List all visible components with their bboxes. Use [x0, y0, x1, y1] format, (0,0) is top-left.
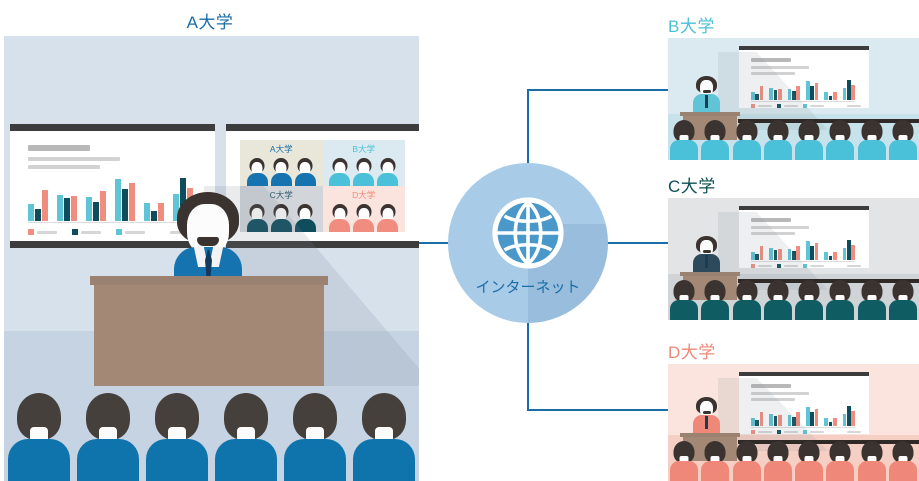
bar-group: [843, 240, 855, 260]
chart-legend-item: [72, 229, 101, 235]
audience-body: [701, 140, 729, 160]
remote-audience-member: [889, 120, 917, 160]
bar: [122, 189, 128, 221]
remote-audience-member: [826, 120, 854, 160]
vc-participants: [323, 202, 406, 232]
chart-footnote-bar: [847, 431, 861, 433]
bar: [833, 92, 837, 100]
audience-row: [4, 391, 419, 481]
panel-title-b: B大学: [668, 12, 715, 37]
vc-participant-avatar: [353, 158, 374, 186]
remote-audience-row: [668, 439, 919, 481]
bar: [829, 96, 833, 100]
avatar-body: [329, 173, 350, 186]
bar: [129, 183, 135, 221]
remote-audience-member: [764, 280, 792, 320]
podium-desk-top: [90, 276, 328, 285]
remote-audience-row: [668, 278, 919, 320]
vc-cell-B大学[interactable]: B大学: [323, 140, 406, 186]
bar-group: [115, 179, 135, 221]
remote-audience-member: [670, 441, 698, 481]
bar: [806, 241, 810, 260]
slide-title-bar: [28, 145, 90, 151]
bar: [93, 202, 99, 221]
panel-title-c: C大学: [668, 172, 716, 197]
bar: [829, 256, 833, 260]
audience-body: [733, 300, 761, 320]
internet-hub[interactable]: インターネット: [448, 163, 608, 323]
main-lecture-hall-panel: A大学B大学C大学D大学: [4, 36, 419, 481]
screen-rail-top-right: [226, 124, 419, 131]
bar: [806, 407, 810, 426]
lecturer-tie: [705, 255, 708, 268]
legend-label-bar: [125, 231, 145, 234]
bar: [847, 240, 851, 260]
audience-body: [858, 140, 886, 160]
vc-participant-avatar: [295, 158, 316, 186]
avatar-body: [353, 173, 374, 186]
bar: [64, 198, 70, 221]
bar-group: [824, 418, 836, 426]
vc-cell-label: A大学: [240, 143, 323, 155]
slide-text-line: [28, 157, 120, 161]
remote-audience-member: [795, 120, 823, 160]
bar-group: [806, 241, 818, 260]
connector-a-to-hub: [419, 242, 450, 244]
bar-group: [824, 252, 836, 260]
legend-label-bar: [810, 431, 824, 433]
bar: [833, 252, 837, 260]
connector-hub-to-trunk: [606, 242, 668, 244]
vc-participant-avatar: [377, 204, 398, 232]
lecturer-tie: [705, 95, 708, 108]
bar: [810, 246, 814, 260]
lecturer-mustache: [703, 90, 711, 93]
lecturer-mustache: [197, 237, 219, 246]
podium-desk: [94, 276, 324, 386]
audience-body: [858, 300, 886, 320]
audience-body: [764, 300, 792, 320]
connector-trunk-down: [527, 322, 529, 411]
globe-icon: [492, 197, 564, 274]
bar-group: [57, 195, 77, 221]
legend-swatch: [28, 229, 34, 235]
slide-text-line: [28, 165, 100, 169]
diagram-canvas: A大学 B大学 C大学 D大学: [0, 0, 919, 481]
chart-legend-item: [116, 229, 145, 235]
bar: [847, 406, 851, 426]
bar-group: [824, 92, 836, 100]
bar-group: [86, 191, 106, 221]
bar-group: [144, 203, 164, 221]
bar-group: [806, 407, 818, 426]
vc-cell-A大学[interactable]: A大学: [240, 140, 323, 186]
bar: [815, 83, 819, 100]
chart-footnote-bar: [847, 265, 861, 267]
vc-participants: [323, 156, 406, 186]
audience-body: [8, 439, 70, 481]
bar-group: [806, 81, 818, 100]
audience-body: [889, 461, 917, 481]
remote-audience-member: [858, 280, 886, 320]
vc-participant-avatar: [353, 204, 374, 232]
audience-body: [858, 461, 886, 481]
panel-title-d: D大学: [668, 338, 716, 363]
audience-member: [146, 393, 208, 481]
vc-cell-D大学[interactable]: D大学: [323, 186, 406, 232]
bar: [824, 92, 828, 100]
audience-body: [826, 300, 854, 320]
remote-audience-member: [858, 120, 886, 160]
bar: [115, 179, 121, 221]
bar: [833, 418, 837, 426]
bar: [57, 195, 63, 221]
audience-body: [889, 140, 917, 160]
bar-group: [28, 190, 48, 221]
audience-body: [764, 461, 792, 481]
avatar-body: [329, 219, 350, 232]
avatar-body: [353, 219, 374, 232]
audience-member: [353, 393, 415, 481]
bar: [843, 248, 847, 260]
bar: [851, 245, 855, 260]
bar-group: [843, 406, 855, 426]
audience-body: [284, 439, 346, 481]
remote-audience-member: [670, 280, 698, 320]
remote-audience-member: [889, 280, 917, 320]
legend-swatch: [116, 229, 122, 235]
audience-body: [353, 439, 415, 481]
bar: [824, 418, 828, 426]
connector-trunk-up: [527, 89, 529, 164]
audience-body: [795, 461, 823, 481]
remote-audience-member: [733, 280, 761, 320]
remote-lecturer-figure: [692, 397, 722, 437]
remote-site-panel-b: [668, 38, 919, 160]
lecturer-mustache: [703, 250, 711, 253]
lecturer-tie: [705, 416, 708, 429]
bar: [158, 203, 164, 221]
vc-participant-avatar: [329, 204, 350, 232]
remote-audience-member: [701, 441, 729, 481]
vc-participant-avatar: [329, 158, 350, 186]
audience-body: [701, 461, 729, 481]
bar: [35, 209, 41, 221]
vc-participant-avatar: [377, 158, 398, 186]
bar: [829, 422, 833, 426]
audience-member: [284, 393, 346, 481]
bar: [806, 81, 810, 100]
legend-swatch: [72, 229, 78, 235]
legend-label-bar: [810, 105, 824, 107]
screen-rail-top-left: [10, 124, 215, 131]
avatar-body: [247, 173, 268, 186]
audience-member: [215, 393, 277, 481]
remote-audience-member: [701, 280, 729, 320]
panel-title-a: A大学: [0, 8, 420, 33]
remote-audience-member: [733, 441, 761, 481]
remote-audience-member: [795, 441, 823, 481]
vc-participant-avatar: [247, 158, 268, 186]
bar: [28, 204, 34, 221]
legend-label-bar: [810, 265, 824, 267]
avatar-body: [377, 219, 398, 232]
vc-cell-label: D大学: [323, 189, 406, 201]
remote-audience-member: [670, 120, 698, 160]
audience-body: [733, 140, 761, 160]
hub-label: インターネット: [448, 276, 608, 297]
bar: [86, 197, 92, 221]
bar: [71, 196, 77, 221]
audience-body: [670, 461, 698, 481]
remote-audience-member: [733, 120, 761, 160]
chart-legend-item: [28, 229, 57, 235]
remote-audience-row: [668, 118, 919, 160]
connector-to-b: [527, 89, 668, 91]
bar: [815, 409, 819, 426]
vc-participant-avatar: [271, 158, 292, 186]
audience-body: [795, 140, 823, 160]
bar: [851, 85, 855, 100]
bar: [144, 203, 150, 221]
legend-label-bar: [37, 231, 57, 234]
audience-body: [795, 300, 823, 320]
audience-body: [889, 300, 917, 320]
remote-site-panel-c: [668, 198, 919, 320]
audience-body: [764, 140, 792, 160]
audience-body: [215, 439, 277, 481]
remote-audience-member: [826, 441, 854, 481]
avatar-body: [295, 173, 316, 186]
avatar-body: [377, 173, 398, 186]
bar: [847, 80, 851, 100]
remote-audience-member: [764, 120, 792, 160]
remote-audience-member: [701, 120, 729, 160]
audience-member: [8, 393, 70, 481]
audience-body: [826, 140, 854, 160]
audience-body: [670, 140, 698, 160]
remote-audience-member: [826, 280, 854, 320]
audience-body: [701, 300, 729, 320]
audience-body: [826, 461, 854, 481]
connector-to-d: [527, 409, 668, 411]
audience-body: [670, 300, 698, 320]
remote-audience-member: [795, 280, 823, 320]
remote-lecturer-figure: [692, 76, 722, 116]
bar-group: [843, 80, 855, 100]
remote-audience-member: [764, 441, 792, 481]
legend-label-bar: [81, 231, 101, 234]
bar: [810, 412, 814, 426]
bar: [851, 411, 855, 426]
bar: [100, 191, 106, 221]
bar: [151, 211, 157, 221]
remote-site-panel-d: [668, 364, 919, 481]
audience-body: [77, 439, 139, 481]
remote-lecturer-figure: [692, 236, 722, 276]
bar: [824, 252, 828, 260]
avatar-body: [271, 173, 292, 186]
bar: [42, 190, 48, 221]
vc-cell-label: B大学: [323, 143, 406, 155]
remote-audience-member: [889, 441, 917, 481]
audience-body: [733, 461, 761, 481]
bar: [843, 88, 847, 100]
bar: [815, 243, 819, 260]
lecturer-mustache: [703, 411, 711, 414]
chart-footnote-bar: [847, 105, 861, 107]
bar: [843, 414, 847, 426]
bar: [810, 86, 814, 100]
audience-member: [77, 393, 139, 481]
vc-participants: [240, 156, 323, 186]
remote-audience-member: [858, 441, 886, 481]
audience-body: [146, 439, 208, 481]
